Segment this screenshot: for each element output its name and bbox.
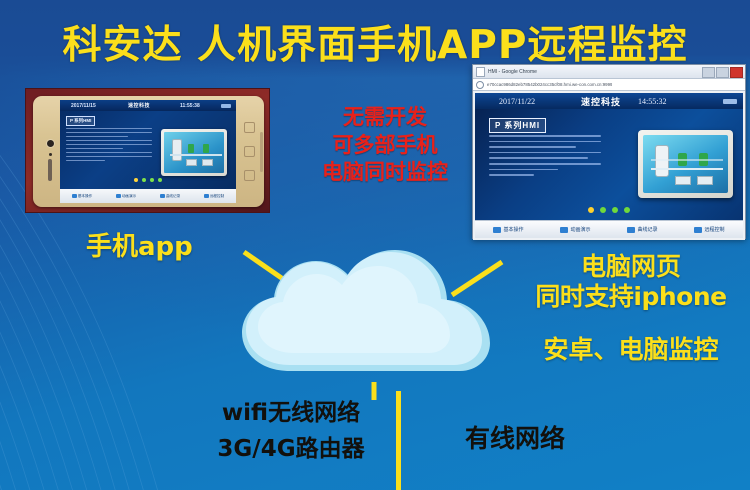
hmi-nav-bar[interactable]: 基本操作 动画演示 曲线记录 远程控制 [475,220,743,238]
wired-network-label: 有线网络 [400,419,630,455]
wireless-network-label: wifi无线网络 3G/4G路由器 [176,396,406,467]
phone-carousel-dots[interactable] [60,169,236,187]
basic-operation-icon [72,194,77,198]
browser-window-title: HMI - Google Chrome [488,69,537,75]
phone-date: 2017/11/15 [71,103,96,109]
hmi-nav-item[interactable]: 动画演示 [542,226,609,233]
window-controls[interactable] [702,67,743,78]
hmi-date: 2017/11/22 [499,97,535,106]
wireless-network-line-1: wifi无线网络 [176,396,406,432]
phone-nav-item[interactable]: 远程控制 [192,194,236,199]
remote-control-icon [694,227,702,233]
remote-control-icon [204,194,209,198]
hmi-nav-item[interactable]: 远程控制 [676,226,743,233]
phone-speaker-icon [48,159,52,181]
hmi-time: 14:55:32 [638,97,666,106]
phone-app-header: 2017/11/15 速控科技 11:55:38 [60,100,236,111]
hmi-web-page: 2017/11/22 速控科技 14:55:32 P 系列HMI [475,93,743,238]
phone-camera-icon [47,140,54,147]
maximize-button[interactable] [716,67,729,78]
phone-description-text [66,128,152,164]
phone-body: 2017/11/15 速控科技 11:55:38 P 系列HMI [33,96,264,207]
red-feature-line-2: 可多部手机 [295,132,475,160]
close-button[interactable] [730,67,743,78]
phone-home-key-icon [244,146,255,157]
hmi-nav-item[interactable]: 曲线记录 [609,226,676,233]
hmi-panel-title: P 系列HMI [489,118,546,133]
phone-app-caption: 手机app [86,226,193,263]
curve-record-icon [627,227,635,233]
hmi-brand: 速控科技 [581,95,621,108]
right-feature-line-2: 同时支持iphone [512,282,750,312]
page-title: 科安达 人机界面手机APP远程监控 [0,14,750,70]
phone-nav-item[interactable]: 动画演示 [104,194,148,199]
phone-sensor-icon [49,153,52,156]
minimize-button[interactable] [702,67,715,78]
phone-screen: 2017/11/15 速控科技 11:55:38 P 系列HMI [60,100,236,203]
phone-soft-keys [244,122,255,181]
curve-record-icon [160,194,165,198]
right-feature-text: 电脑网页 同时支持iphone 安卓、电脑监控 [512,252,750,365]
phone-nav-bar[interactable]: 基本操作 动画演示 曲线记录 远程控制 [60,189,236,203]
browser-address-bar[interactable]: e70ccac986d82eb78542b024cc35cf08.hmi.we-… [473,79,745,91]
browser-window: HMI - Google Chrome e70ccac986d82eb78542… [472,64,746,239]
page-favicon [476,67,485,77]
browser-title-bar[interactable]: HMI - Google Chrome [473,65,745,79]
phone-panel-title: P 系列HMI [66,116,95,126]
hmi-logout-button[interactable] [723,99,737,104]
hmi-page-header: 2017/11/22 速控科技 14:55:32 [475,93,743,109]
hmi-nav-item[interactable]: 基本操作 [475,226,542,233]
phone-menu-key-icon [244,122,255,133]
wireless-network-line-2: 3G/4G路由器 [176,432,406,468]
site-info-icon[interactable] [476,81,484,89]
address-bar-url: e70ccac986d82eb78542b024cc35cf08.hmi.we-… [487,82,612,87]
right-feature-line-3: 安卓、电脑监控 [512,335,750,365]
basic-operation-icon [493,227,501,233]
phone-nav-item[interactable]: 曲线记录 [148,194,192,199]
red-feature-line-1: 无需开发 [295,104,475,132]
animation-demo-icon [116,194,121,198]
hmi-carousel-dots[interactable] [475,200,743,218]
animation-demo-icon [560,227,568,233]
phone-nav-item[interactable]: 基本操作 [60,194,104,199]
phone-back-key-icon [244,170,255,181]
browser-content-area: 2017/11/22 速控科技 14:55:32 P 系列HMI [473,91,745,240]
hmi-device-image [638,130,733,198]
cloud-shape [232,249,502,389]
poster-canvas: 科安达 人机界面手机APP远程监控 2017/11/15 速控科技 11:55:… [0,0,750,490]
hmi-description-text [489,135,601,180]
phone-logout-button[interactable] [221,104,231,108]
phone-photo: 2017/11/15 速控科技 11:55:38 P 系列HMI [25,88,270,213]
phone-side-button [260,132,263,172]
phone-time: 11:55:38 [180,103,200,109]
phone-brand: 速控科技 [128,102,150,109]
red-feature-text: 无需开发 可多部手机 电脑同时监控 [295,104,475,187]
red-feature-line-3: 电脑同时监控 [295,159,475,187]
right-feature-line-1: 电脑网页 [512,252,750,282]
phone-app-body: P 系列HMI [60,111,236,189]
